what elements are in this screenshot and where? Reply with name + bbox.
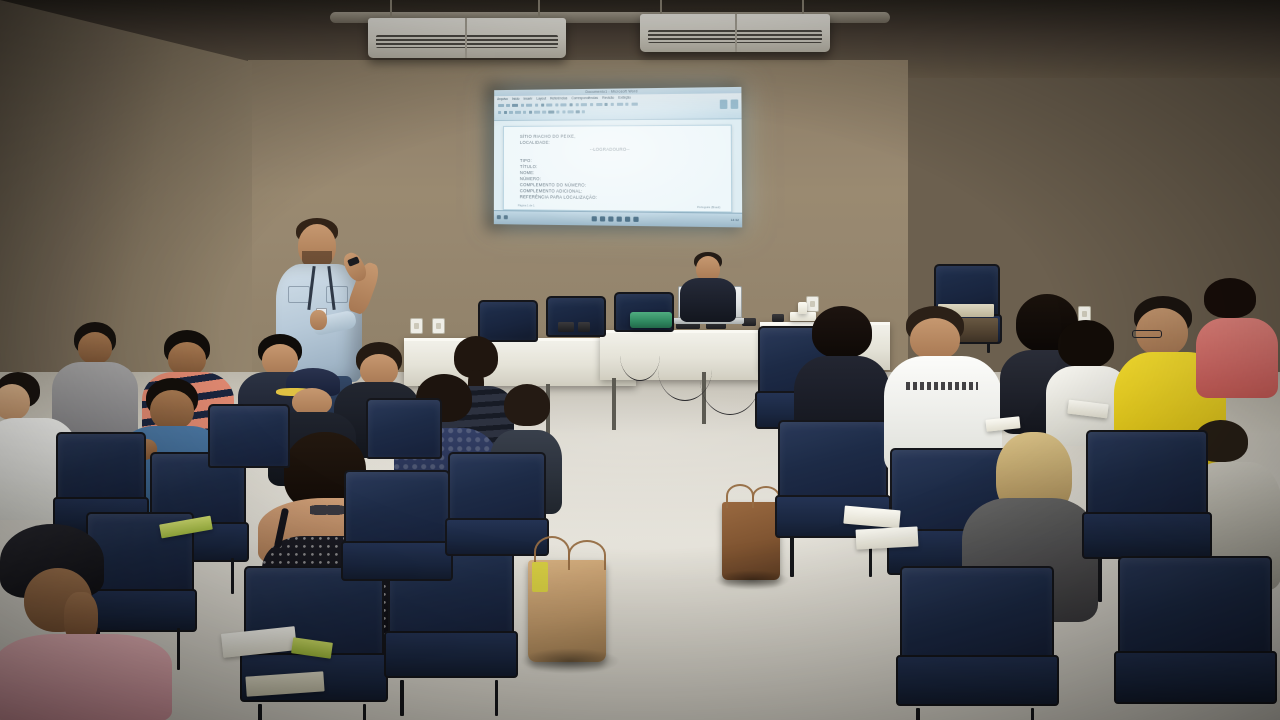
status-language: Português (Brasil): [697, 206, 720, 209]
doc-line-2: LOCALIDADE:: [520, 139, 731, 146]
ribbon-tab-7[interactable]: Exibição: [618, 96, 631, 100]
doc-section-heading: --LOGRADOURO--: [520, 147, 731, 154]
ceiling-ac-left: [368, 18, 566, 58]
attendee-hair: [1058, 320, 1114, 368]
ribbon-tab-3[interactable]: Layout: [536, 97, 546, 101]
taskbar-app-icons[interactable]: [592, 216, 639, 222]
green-projector: [630, 312, 672, 328]
cable-3: [700, 344, 760, 415]
chair-row-left-far: [208, 404, 286, 500]
shirt-pocket-left: [288, 286, 310, 303]
taskbar-clock: 14:32: [731, 218, 739, 222]
ribbon-tab-4[interactable]: Referências: [550, 96, 567, 100]
device-box-6: [772, 314, 784, 322]
ribbon-tab-2[interactable]: Inserir: [523, 97, 532, 101]
chair-row-left-far2: [366, 398, 438, 490]
attendee-torso: [1196, 318, 1278, 398]
attendee-head: [168, 342, 206, 376]
bag-yellow-content: [532, 562, 548, 592]
attendee-cap-pink-shirt: [0, 524, 180, 720]
ribbon-right-group: [720, 99, 738, 109]
ribbon-tabs[interactable]: Arquivo Início Inserir Layout Referência…: [497, 96, 631, 102]
seated-operator: [676, 252, 740, 328]
attendee-head: [910, 318, 960, 360]
bag-handle-back: [568, 540, 606, 570]
neck-tattoo-butterfly: [310, 502, 344, 518]
taskbar-start-group[interactable]: [497, 215, 507, 219]
chair-right-4: [1086, 430, 1204, 572]
word-window-title: Documento1 - Microsoft Word: [585, 89, 637, 94]
attendee-pink-top-back-right: [1196, 278, 1280, 398]
ribbon-icon-row-2: [498, 110, 585, 114]
wall-outlet-left2: [432, 318, 445, 334]
attendee-head: [0, 384, 30, 420]
operator-torso: [680, 278, 736, 322]
ceiling-ac-right: [640, 14, 830, 52]
empty-chair-front-2: [546, 296, 602, 356]
attendee-torso: [0, 634, 172, 720]
status-page: Página 1 de 1: [518, 204, 535, 207]
notepad-right-2: [856, 526, 919, 549]
device-box-1: [558, 322, 574, 332]
presenter-hand: [310, 310, 327, 330]
word-ribbon: Arquivo Início Inserir Layout Referência…: [494, 93, 742, 121]
bag-handle-front: [726, 484, 754, 508]
classroom-photo: Documento1 - Microsoft Word Arquivo Iníc…: [0, 0, 1280, 720]
word-status-bar: Página 1 de 1 Português (Brasil): [518, 204, 720, 209]
device-box-5: [742, 318, 756, 326]
projection-screen: Documento1 - Microsoft Word Arquivo Iníc…: [494, 87, 742, 228]
tan-tote-bag: [528, 560, 606, 662]
glasses-icon: [1132, 330, 1162, 338]
chair-right-5: [900, 566, 1050, 720]
chair-row-left-mid2: [448, 452, 542, 566]
brown-tote-bag: [722, 502, 780, 580]
ribbon-tab-0[interactable]: Arquivo: [497, 97, 508, 101]
shirt-text-milwaukee: [906, 382, 978, 390]
bag-shadow-1: [520, 648, 620, 674]
ribbon-icon-row-1: [498, 103, 637, 108]
doc-field-referencia: REFERÊNCIA PARA LOCALIZAÇÃO:: [520, 195, 731, 203]
wall-outlet-left: [410, 318, 423, 334]
table-leg-2: [612, 378, 616, 430]
attendee-head: [150, 390, 194, 430]
chair-right-6: [1118, 556, 1268, 720]
ribbon-tab-6[interactable]: Revisão: [602, 96, 614, 100]
device-box-2: [578, 322, 590, 332]
attendee-head: [78, 332, 112, 364]
ribbon-tab-1[interactable]: Início: [512, 97, 520, 101]
cable-1: [620, 330, 660, 381]
ribbon-tab-5[interactable]: Correspondências: [571, 96, 598, 100]
word-document-page: SÍTIO RIACHO DO PEIXE, LOCALIDADE: --LOG…: [503, 125, 732, 213]
attendee-hair: [812, 306, 872, 358]
attendee-hair: [504, 384, 550, 426]
attendee-hair: [1204, 278, 1256, 318]
bag-shadow-2: [714, 570, 790, 590]
